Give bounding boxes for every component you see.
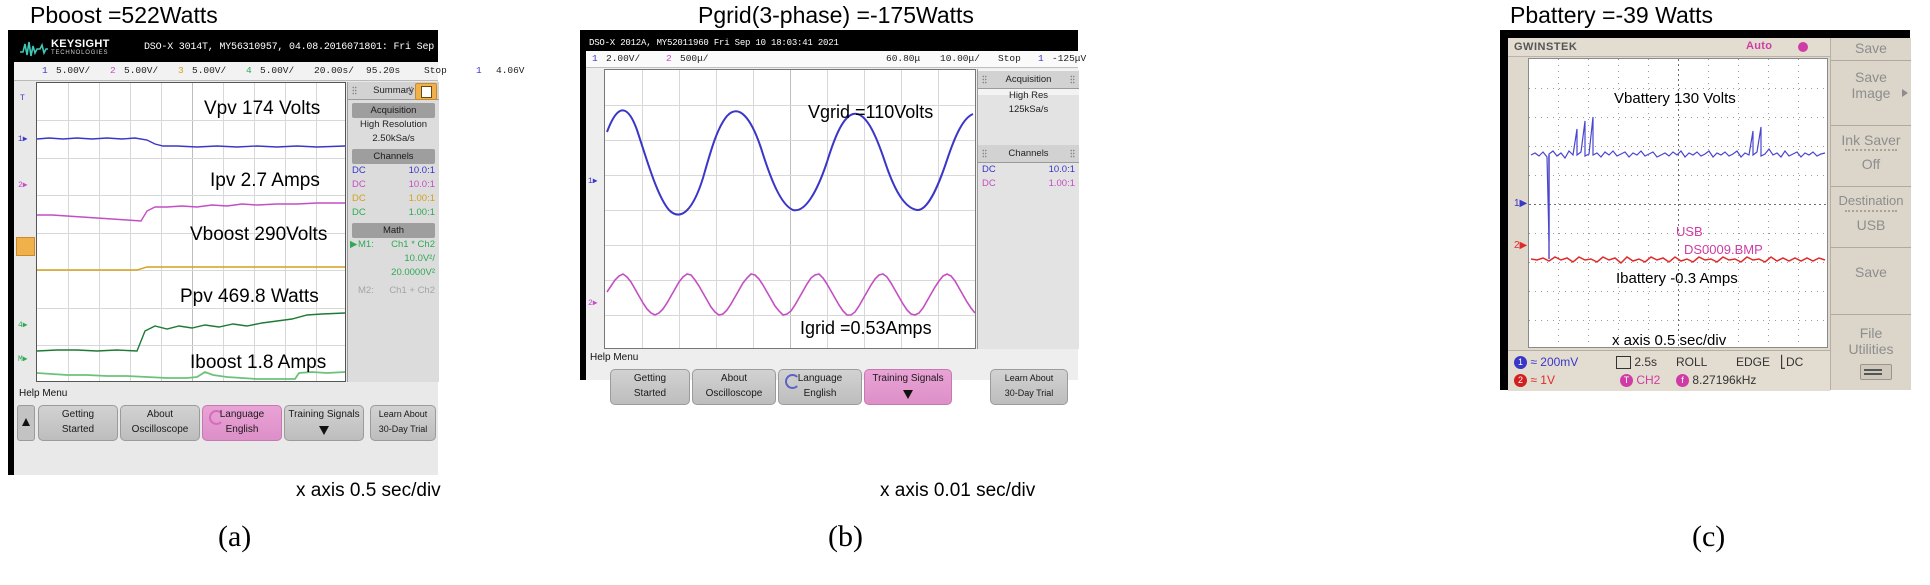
keysight-logo-text: KEYSIGHT <box>51 39 110 50</box>
softkey-language[interactable]: Language English <box>778 369 862 405</box>
softkey-learn-about-trial[interactable]: Learn About 30-Day Trial <box>990 369 1068 405</box>
menu-item-ink-saver[interactable]: Ink Saver Off <box>1831 125 1911 186</box>
ch2-number[interactable]: 2 <box>110 65 116 76</box>
menu-item-line2: Utilities <box>1831 341 1911 357</box>
timebase-scale[interactable]: 10.00μ/ <box>940 53 980 64</box>
summary-channel-row: DC 10.0:1 <box>348 164 439 178</box>
math-m1-label: M1: <box>358 239 374 250</box>
timebase-scale[interactable]: 20.00s/ <box>314 65 354 76</box>
math-section-button[interactable]: Math <box>352 223 435 238</box>
softkey-down-arrow-icon <box>903 390 913 399</box>
softkey-line2: Oscilloscope <box>693 388 775 399</box>
channels-label-b: Channels <box>978 148 1079 159</box>
math-label: Math <box>352 225 435 236</box>
annotation-vboost: Vboost 290Volts <box>190 224 327 246</box>
math-m2-expression: Ch1 + Ch2 <box>389 285 435 296</box>
rail-marker-ch2-ground[interactable]: 2▶ <box>18 180 28 190</box>
annotation-igrid: Igrid =0.53Amps <box>800 318 932 339</box>
keysight-wave-icon <box>19 40 49 58</box>
ch1-coupling: DC <box>352 165 366 176</box>
panel-b-help-menu-label: Help Menu <box>586 352 1078 366</box>
ch3-number[interactable]: 3 <box>178 65 184 76</box>
run-state[interactable]: Stop <box>998 53 1021 64</box>
keysight-logo-subtext: TECHNOLOGIES <box>51 50 108 57</box>
trigger-source-status[interactable]: T CH2 <box>1620 373 1660 387</box>
menu-item-line2: Image <box>1831 85 1911 101</box>
softkey-line2: English <box>779 388 861 399</box>
annotation-ppv: Ppv 469.8 Watts <box>180 286 319 308</box>
chevron-right-icon <box>1902 89 1908 97</box>
ch2-scale[interactable]: 5.00V/ <box>124 65 158 76</box>
gwinstek-logo: GWINSTEK <box>1514 41 1577 53</box>
ch2-coupling-icon: ≈ <box>1530 373 1537 387</box>
trigger-delay[interactable]: 95.20s <box>366 65 400 76</box>
ch1-badge: 1 <box>1514 356 1527 369</box>
usb-icon[interactable] <box>1860 364 1892 380</box>
math-m1-row: ▶ M1: Ch1 * Ch2 <box>348 238 439 252</box>
panel-a-help-menu-label: Help Menu <box>14 388 438 402</box>
ch1-scale[interactable]: 5.00V/ <box>56 65 90 76</box>
acquisition-mode-b: High Res <box>978 89 1079 103</box>
panel-b-model-info: DSO-X 2012A, MY52011960 Fri Sep 10 18:03… <box>589 38 839 48</box>
trigger-level[interactable]: 4.06V <box>496 65 525 76</box>
ch4-coupling: DC <box>352 207 366 218</box>
ch3-probe: 1.00:1 <box>409 193 435 204</box>
rail-marker-ch1-b[interactable]: 1▶ <box>588 176 598 186</box>
panel-a-scope-frame: KEYSIGHT TECHNOLOGIES DSO-X 3014T, MY563… <box>8 30 438 475</box>
ch2-scale[interactable]: 500μ/ <box>680 53 709 64</box>
softkey-line2: English <box>203 424 281 435</box>
ch1-number[interactable]: 1 <box>42 65 48 76</box>
acquisition-label: Acquisition <box>352 105 435 116</box>
menu-item-line1: Destination <box>1831 193 1911 209</box>
softkey-line1: Learn About <box>991 373 1067 383</box>
panel-c-bottom-status: 1 ≈ 200mV 2 ≈ 1V 2.5s ROLL <box>1508 350 1830 391</box>
summary-channel-row: DC 10.0:1 <box>348 178 439 192</box>
softkey-language[interactable]: Language English <box>202 405 282 441</box>
menu-item-save[interactable]: Save <box>1831 247 1911 314</box>
subcaption-c: (c) <box>1692 520 1725 554</box>
menu-item-line1: Save <box>1831 264 1911 280</box>
ch1-probe-b: 10.0:1 <box>1049 164 1075 175</box>
run-state[interactable]: Stop <box>424 65 447 76</box>
annotation-vbattery: Vbattery 130 Volts <box>1614 90 1736 107</box>
ch3-coupling: DC <box>352 193 366 204</box>
math-m1-scale-row: 10.0V²/ <box>348 252 439 266</box>
channels-section-button[interactable]: Channels <box>352 149 435 164</box>
menu-item-line2: USB <box>1831 217 1911 233</box>
rail-marker-ch2-c[interactable]: 2▶ <box>1514 240 1527 251</box>
menu-item-separator-dots <box>1845 149 1897 155</box>
trigger-source[interactable]: 1 <box>1038 53 1044 64</box>
menu-item-destination[interactable]: Destination USB <box>1831 186 1911 247</box>
summary-channel-row: DC 1.00:1 <box>348 192 439 206</box>
ch2-badge: 2 <box>1514 374 1527 387</box>
trigger-mode-label[interactable]: Auto <box>1746 40 1772 52</box>
timebase-value: 2.5s <box>1634 355 1657 369</box>
sample-rate: 2.50kSa/s <box>348 132 439 146</box>
rail-marker-ch4-ground[interactable]: 4▶ <box>18 320 28 330</box>
annotation-ipv: Ipv 2.7 Amps <box>210 170 320 192</box>
rail-marker-math[interactable]: M▶ <box>18 354 28 364</box>
ch4-probe: 1.00:1 <box>409 207 435 218</box>
softkey-about-oscilloscope[interactable]: About Oscilloscope <box>692 369 776 405</box>
panel-a: Pboost =522Watts KEYSIGHT TECHNOLOGIES D… <box>0 0 560 585</box>
ch1-scale[interactable]: 2.00V/ <box>606 53 640 64</box>
softkey-up-arrow[interactable] <box>17 405 35 441</box>
softkey-line2: Started <box>39 424 117 435</box>
softkey-line1: Language <box>203 409 281 420</box>
panel-a-channel-rail: T 1▶ 2▶ 3▶ 4▶ M▶ <box>14 82 36 382</box>
sample-rate-b: 125kSa/s <box>978 103 1079 117</box>
rail-marker-ch1-ground[interactable]: 1▶ <box>18 134 28 144</box>
ch3-scale[interactable]: 5.00V/ <box>192 65 226 76</box>
panel-b-scope-screen: DSO-X 2012A, MY52011960 Fri Sep 10 18:03… <box>586 36 1078 380</box>
math-m2-row: M2: Ch1 + Ch2 <box>348 284 439 298</box>
panel-a-scope-screen: KEYSIGHT TECHNOLOGIES DSO-X 3014T, MY563… <box>14 36 438 475</box>
subcaption-b: (b) <box>828 520 863 554</box>
keysight-logo: KEYSIGHT TECHNOLOGIES <box>19 39 139 60</box>
softkey-line1: Getting <box>39 409 117 420</box>
menu-item-line1: Ink Saver <box>1831 132 1911 148</box>
timebase-status[interactable]: 2.5s <box>1616 355 1657 369</box>
softkey-about-oscilloscope[interactable]: About Oscilloscope <box>120 405 200 441</box>
panel-b-channel-bar: 1 2.00V/ 2 500μ/ 60.80μ 10.00μ/ Stop 1 -… <box>586 51 1078 68</box>
trigger-coupling[interactable]: ⎣DC <box>1780 355 1803 369</box>
softkey-line1: Language <box>779 373 861 384</box>
summary-channel-row: DC 1.00:1 <box>348 206 439 220</box>
sweep-mode[interactable]: ROLL <box>1676 355 1707 369</box>
trigger-source[interactable]: 1 <box>476 65 482 76</box>
softkey-line1: Getting <box>611 373 689 384</box>
softkey-line2: 30-Day Trial <box>991 388 1067 398</box>
ch2-probe-b: 1.00:1 <box>1049 178 1075 189</box>
summary-toggle-button[interactable] <box>415 83 437 100</box>
panel-a-summary-sidebar: Summary Acquisition High Resolution 2.50… <box>347 82 439 382</box>
panel-c-scope-screen: GWINSTEK Auto <box>1508 38 1910 390</box>
panel-a-softkey-bar: Getting Started About Oscilloscope Langu… <box>14 402 438 444</box>
timebase-icon <box>1616 356 1631 369</box>
ch2-vertical-scale: 1V <box>1540 373 1555 387</box>
trigger-delay[interactable]: 60.80μ <box>886 53 920 64</box>
panel-a-xaxis-note: x axis 0.5 sec/div <box>296 480 441 502</box>
trigger-frequency-row[interactable]: f 8.27196kHz <box>1676 373 1756 387</box>
annotation-filename: DS0009.BMP <box>1684 242 1763 257</box>
annotation-iboost: Iboost 1.8 Amps <box>190 352 326 374</box>
softkey-getting-started[interactable]: Getting Started <box>38 405 118 441</box>
menu-item-save-image[interactable]: Save Image <box>1831 60 1911 125</box>
ch2-status[interactable]: 2 ≈ 1V <box>1514 373 1555 387</box>
panel-a-model-info: DSO-X 3014T, MY56310957, 04.08.201607180… <box>144 42 533 53</box>
channels-header-b[interactable]: Channels <box>978 145 1079 163</box>
softkey-training-signals[interactable]: Training Signals <box>284 405 364 441</box>
channels-label: Channels <box>352 151 435 162</box>
rail-marker-ch2-b[interactable]: 2▶ <box>588 298 598 308</box>
ch2-probe: 10.0:1 <box>409 179 435 190</box>
panel-b: Pgrid(3-phase) =-175Watts DSO-X 2012A, M… <box>580 0 1100 585</box>
menu-item-line1: File <box>1831 325 1911 341</box>
panel-a-channel-bar: 1 5.00V/ 2 5.00V/ 3 5.00V/ 4 5.00V/ 20.0… <box>14 62 438 81</box>
rail-marker-ch1[interactable]: T <box>20 94 25 103</box>
softkey-learn-about-trial[interactable]: Learn About 30-Day Trial <box>370 405 436 441</box>
math-m1-expression: Ch1 * Ch2 <box>391 239 435 250</box>
softkey-line2: Started <box>611 388 689 399</box>
softkey-line2: 30-Day Trial <box>371 424 435 434</box>
softkey-line1: Training Signals <box>285 409 363 420</box>
trigger-coupling-label: DC <box>1786 355 1803 369</box>
ch1-coupling-b: DC <box>982 164 996 175</box>
math-m2-label: M2: <box>358 285 374 296</box>
annotation-ibattery: Ibattery -0.3 Amps <box>1616 270 1738 287</box>
softkey-line2: Oscilloscope <box>121 424 199 435</box>
rail-marker-ch1-c[interactable]: 1▶ <box>1514 198 1527 209</box>
acquisition-label-b: Acquisition <box>978 74 1079 85</box>
figure-root: Pboost =522Watts KEYSIGHT TECHNOLOGIES D… <box>0 0 1930 585</box>
panel-b-softkey-bar: Getting Started About Oscilloscope Langu… <box>586 366 1078 408</box>
panel-a-titlebar: KEYSIGHT TECHNOLOGIES DSO-X 3014T, MY563… <box>14 36 438 62</box>
panel-c-title: Pbattery =-39 Watts <box>1510 2 1713 29</box>
panel-b-title: Pgrid(3-phase) =-175Watts <box>698 2 974 29</box>
frequency-badge: f <box>1676 374 1689 387</box>
ch2-coupling-b: DC <box>982 178 996 189</box>
acquisition-mode: High Resolution <box>348 118 439 132</box>
panel-b-xaxis-note: x axis 0.01 sec/div <box>880 480 1035 502</box>
trigger-badge: T <box>1620 374 1633 387</box>
summary-header[interactable]: Summary <box>348 82 439 100</box>
trigger-status-dot-icon <box>1798 42 1808 52</box>
annotation-vgrid: Vgrid =110Volts <box>808 102 933 123</box>
panel-b-titlebar: DSO-X 2012A, MY52011960 Fri Sep 10 18:03… <box>586 36 1078 51</box>
save-menu-title: Save <box>1831 38 1911 60</box>
menu-item-line1: Save <box>1831 69 1911 85</box>
ch1-coupling-icon: ≈ <box>1530 355 1537 369</box>
softkey-down-arrow-icon <box>319 426 329 435</box>
ch1-number[interactable]: 1 <box>592 53 598 64</box>
panel-b-scope-frame: DSO-X 2012A, MY52011960 Fri Sep 10 18:03… <box>580 30 1078 380</box>
panel-c-scope-frame: GWINSTEK Auto <box>1500 30 1910 390</box>
summary-channel-row: DC 10.0:1 <box>978 163 1079 177</box>
math-m1-scale: 10.0V²/ <box>404 253 435 264</box>
trigger-frequency: 8.27196kHz <box>1692 373 1756 387</box>
ch1-probe: 10.0:1 <box>409 165 435 176</box>
menu-item-line2: Off <box>1831 156 1911 172</box>
softkey-line1: Learn About <box>371 409 435 419</box>
trigger-level[interactable]: -125μV <box>1052 53 1086 64</box>
math-m1-offset-row: 20.0000V² <box>348 266 439 280</box>
subcaption-a: (a) <box>218 520 251 554</box>
ch1-status[interactable]: 1 ≈ 200mV <box>1514 355 1578 369</box>
panel-c-save-menu: Save Save Image Ink Saver Off Destinatio… <box>1830 38 1911 390</box>
panel-a-orange-marker[interactable] <box>16 237 35 256</box>
annotation-vpv: Vpv 174 Volts <box>204 98 320 120</box>
ch1-vertical-scale: 200mV <box>1540 355 1578 369</box>
softkey-line1: Training Signals <box>865 373 951 384</box>
panel-a-title: Pboost =522Watts <box>30 2 218 29</box>
trigger-source: CH2 <box>1636 373 1660 387</box>
acquisition-section-button[interactable]: Acquisition <box>352 103 435 118</box>
annotation-usb: USB <box>1676 224 1703 239</box>
menu-item-separator-dots <box>1845 210 1897 216</box>
acquisition-header-b[interactable]: Acquisition <box>978 71 1079 89</box>
summary-channel-row: DC 1.00:1 <box>978 177 1079 191</box>
math-m1-offset: 20.0000V² <box>391 267 435 278</box>
softkey-getting-started[interactable]: Getting Started <box>610 369 690 405</box>
trigger-type[interactable]: EDGE <box>1736 355 1770 369</box>
softkey-line1: About <box>693 373 775 384</box>
softkey-line1: About <box>121 409 199 420</box>
ch2-number[interactable]: 2 <box>666 53 672 64</box>
ch2-coupling: DC <box>352 179 366 190</box>
panel-c: Pbattery =-39 Watts GWINSTEK Auto <box>1500 0 1930 585</box>
annotation-xaxis-c: x axis 0.5 sec/div <box>1612 332 1726 349</box>
math-play-icon: ▶ <box>350 239 357 250</box>
panel-b-summary-sidebar: KEYSIGHT TECHNOLOGIES Acquisition High R… <box>977 69 1079 349</box>
ch4-scale[interactable]: 5.00V/ <box>260 65 294 76</box>
softkey-training-signals[interactable]: Training Signals <box>864 369 952 405</box>
ch4-number[interactable]: 4 <box>246 65 252 76</box>
